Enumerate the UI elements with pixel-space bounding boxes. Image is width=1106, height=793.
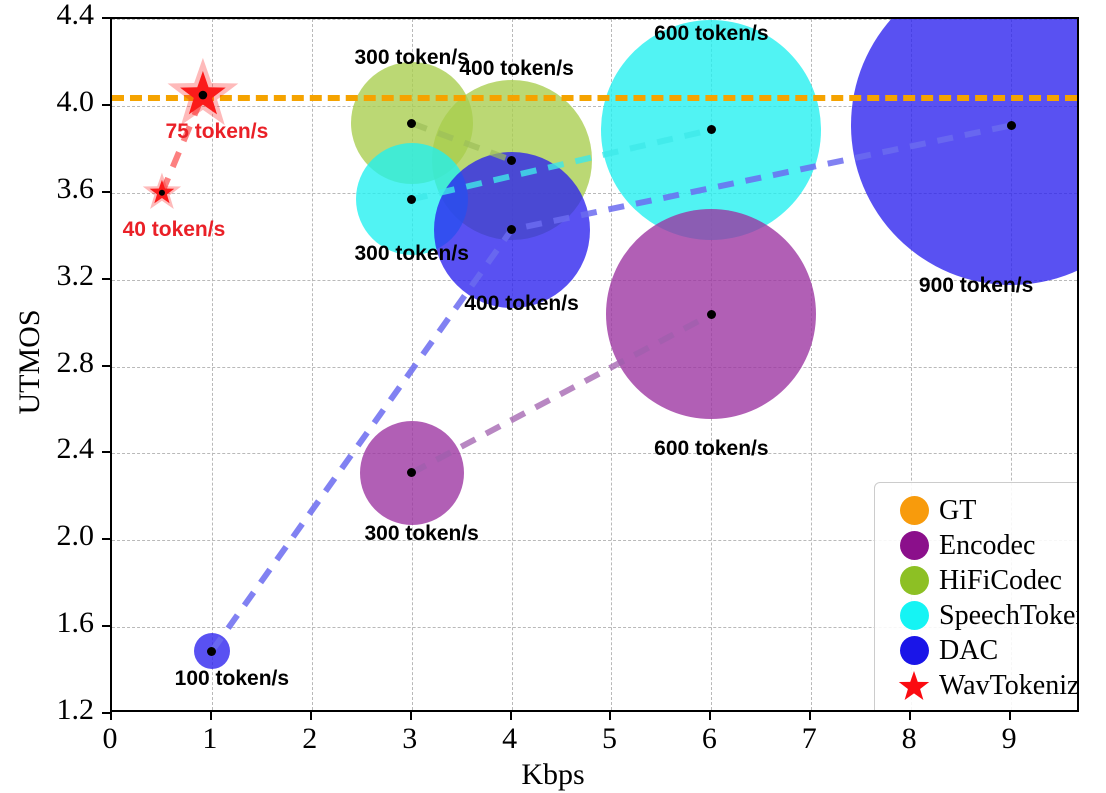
x-tick bbox=[110, 712, 112, 720]
annotation-label: 75 token/s bbox=[166, 120, 269, 144]
y-tick-label: 4.0 bbox=[4, 85, 94, 119]
bubble-center-dot bbox=[1007, 121, 1016, 130]
y-tick-label: 3.2 bbox=[4, 259, 94, 293]
annotation-label: 900 token/s bbox=[919, 274, 1033, 298]
legend-circle-icon bbox=[889, 636, 939, 665]
legend[interactable]: GTEncodecHiFiCodecSpeechTokenizerDACWavT… bbox=[874, 482, 1079, 712]
y-tick-label: 3.6 bbox=[4, 172, 94, 206]
legend-label: Encodec bbox=[939, 532, 1035, 560]
legend-item-dac[interactable]: DAC bbox=[889, 633, 1079, 668]
legend-circle-icon bbox=[889, 496, 939, 525]
x-tick bbox=[709, 712, 711, 720]
bubble-center-dot bbox=[407, 195, 416, 204]
annotation-label: 40 token/s bbox=[123, 218, 226, 242]
x-tick-label: 5 bbox=[579, 722, 639, 756]
legend-color-swatch bbox=[900, 531, 929, 560]
x-tick bbox=[609, 712, 611, 720]
y-tick bbox=[102, 104, 110, 106]
legend-item-speechtokenizer[interactable]: SpeechTokenizer bbox=[889, 598, 1079, 633]
legend-item-encodec[interactable]: Encodec bbox=[889, 528, 1079, 563]
y-tick bbox=[102, 538, 110, 540]
y-tick bbox=[102, 712, 110, 714]
star-wavtokenizer-75[interactable] bbox=[168, 58, 239, 125]
y-tick bbox=[102, 451, 110, 453]
y-tick-label: 4.4 bbox=[4, 0, 94, 32]
legend-item-hificodec[interactable]: HiFiCodec bbox=[889, 563, 1079, 598]
legend-circle-icon bbox=[889, 601, 939, 630]
bubble-center-dot bbox=[707, 310, 716, 319]
gridline-vertical bbox=[312, 19, 313, 710]
x-tick bbox=[809, 712, 811, 720]
x-tick-label: 1 bbox=[180, 722, 240, 756]
y-tick bbox=[102, 625, 110, 627]
bubble-center-dot bbox=[207, 647, 216, 656]
gt-reference-line bbox=[112, 95, 1077, 101]
legend-star-icon bbox=[889, 669, 939, 703]
x-tick-label: 8 bbox=[879, 722, 939, 756]
x-tick-label: 4 bbox=[480, 722, 540, 756]
x-tick-label: 3 bbox=[380, 722, 440, 756]
bubble-center-dot bbox=[507, 156, 516, 165]
y-tick-label: 2.4 bbox=[4, 432, 94, 466]
y-tick bbox=[102, 365, 110, 367]
star-wavtokenizer-40[interactable] bbox=[143, 173, 181, 209]
legend-label: SpeechTokenizer bbox=[939, 602, 1079, 630]
y-tick-label: 1.6 bbox=[4, 606, 94, 640]
legend-label: HiFiCodec bbox=[939, 567, 1062, 595]
annotation-label: 300 token/s bbox=[364, 522, 478, 546]
legend-circle-icon bbox=[889, 566, 939, 595]
x-tick-label: 9 bbox=[979, 722, 1039, 756]
annotation-label: 100 token/s bbox=[175, 667, 289, 691]
annotation-label: 400 token/s bbox=[459, 57, 573, 81]
x-tick-label: 6 bbox=[679, 722, 739, 756]
annotation-label: 600 token/s bbox=[654, 22, 768, 46]
legend-item-gt[interactable]: GT bbox=[889, 493, 1079, 528]
x-tick bbox=[410, 712, 412, 720]
y-tick-label: 2.0 bbox=[4, 519, 94, 553]
gridline-horizontal bbox=[112, 367, 1077, 368]
annotation-label: 300 token/s bbox=[354, 46, 468, 70]
bubble-center-dot bbox=[407, 119, 416, 128]
y-tick bbox=[102, 278, 110, 280]
legend-label: DAC bbox=[939, 637, 998, 665]
bubble-dac-900[interactable] bbox=[851, 17, 1079, 285]
annotation-label: 300 token/s bbox=[354, 242, 468, 266]
x-tick bbox=[310, 712, 312, 720]
y-tick bbox=[102, 191, 110, 193]
x-tick-label: 7 bbox=[779, 722, 839, 756]
legend-color-swatch bbox=[900, 496, 929, 525]
annotation-label: 400 token/s bbox=[464, 292, 578, 316]
x-tick bbox=[210, 712, 212, 720]
legend-circle-icon bbox=[889, 531, 939, 560]
bubble-chart-figure: UTMOS Kbps 01234567891.21.62.02.42.83.23… bbox=[0, 0, 1106, 793]
x-axis-title: Kbps bbox=[0, 758, 1106, 792]
y-tick-label: 1.2 bbox=[4, 693, 94, 727]
x-tick-label: 0 bbox=[80, 722, 140, 756]
y-tick-label: 2.8 bbox=[4, 346, 94, 380]
annotation-label: 600 token/s bbox=[654, 437, 768, 461]
legend-item-wavtokenizer[interactable]: WavTokenizer bbox=[889, 668, 1079, 703]
legend-color-swatch bbox=[900, 601, 929, 630]
plot-area: 300 token/s400 token/s600 token/s300 tok… bbox=[110, 17, 1079, 712]
legend-color-swatch bbox=[900, 636, 929, 665]
x-tick bbox=[510, 712, 512, 720]
x-tick bbox=[909, 712, 911, 720]
gridline-horizontal bbox=[112, 453, 1077, 454]
x-tick-label: 2 bbox=[280, 722, 340, 756]
legend-label: WavTokenizer bbox=[939, 672, 1079, 700]
x-tick bbox=[1009, 712, 1011, 720]
legend-label: GT bbox=[939, 497, 976, 525]
y-tick bbox=[102, 17, 110, 19]
legend-color-swatch bbox=[900, 566, 929, 595]
